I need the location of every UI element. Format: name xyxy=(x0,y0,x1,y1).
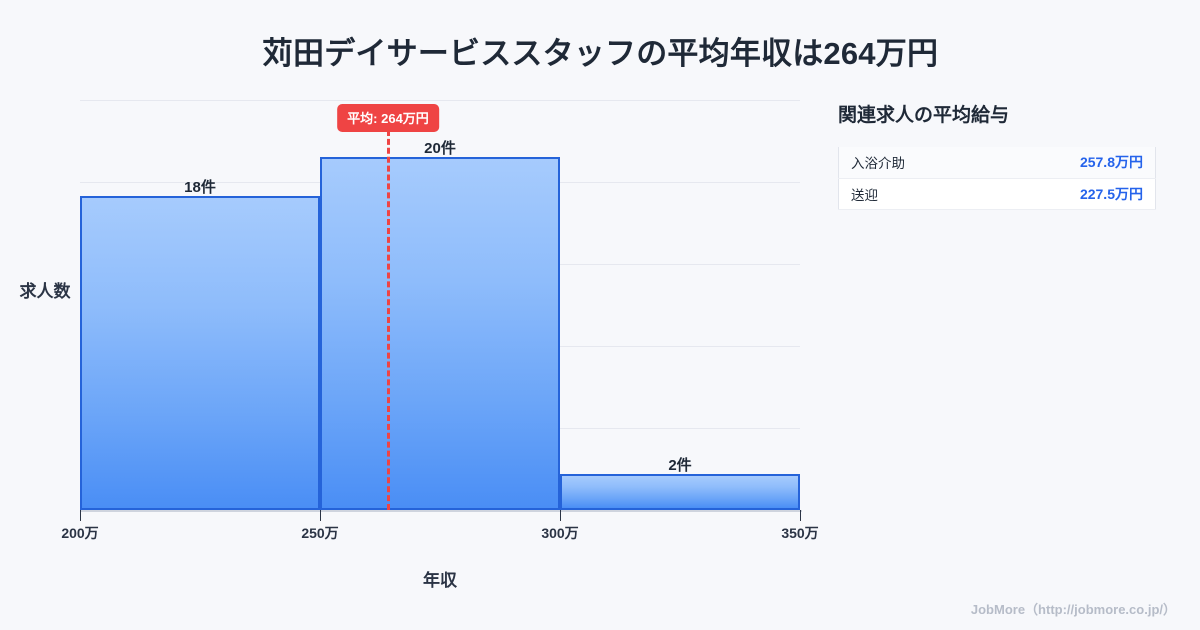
bar-value-label-0: 18件 xyxy=(80,176,320,197)
x-tick-label-2: 300万 xyxy=(530,523,590,543)
row-label: 送迎 xyxy=(839,178,989,209)
bar-bin-2[interactable] xyxy=(560,474,800,510)
page-title: 苅田デイサービススタッフの平均年収は264万円 xyxy=(0,28,1200,73)
table-row[interactable]: 入浴介助 257.8万円 xyxy=(839,147,1156,178)
chart-page: 苅田デイサービススタッフの平均年収は264万円 18件 20件 2件 平均: 2… xyxy=(0,0,1200,630)
side-panel: 関連求人の平均給与 入浴介助 257.8万円 送迎 227.5万円 xyxy=(838,100,1162,210)
x-tick xyxy=(560,510,561,521)
bar-value-label-2: 2件 xyxy=(560,454,800,475)
x-axis-line xyxy=(80,510,802,512)
x-tick-label-1: 250万 xyxy=(290,523,350,543)
x-tick xyxy=(320,510,321,521)
y-axis-title: 求人数 xyxy=(8,277,82,302)
bar-bin-1[interactable] xyxy=(320,157,560,510)
row-value: 227.5万円 xyxy=(988,178,1155,209)
table-row[interactable]: 送迎 227.5万円 xyxy=(839,178,1156,209)
side-panel-title: 関連求人の平均給与 xyxy=(838,100,1162,127)
average-badge: 平均: 264万円 xyxy=(337,104,439,132)
x-tick-label-0: 200万 xyxy=(50,523,110,543)
bar-value-label-1: 20件 xyxy=(320,137,560,158)
x-tick xyxy=(80,510,81,521)
row-value: 257.8万円 xyxy=(988,147,1155,178)
footer-credit: JobMore（http://jobmore.co.jp/） xyxy=(971,599,1176,618)
x-tick xyxy=(800,510,801,521)
average-line xyxy=(387,130,390,510)
plot-area: 18件 20件 2件 xyxy=(80,100,800,510)
bar-bin-0[interactable] xyxy=(80,196,320,510)
related-salary-table: 入浴介助 257.8万円 送迎 227.5万円 xyxy=(838,147,1156,210)
x-tick-label-3: 350万 xyxy=(770,523,830,543)
gridline xyxy=(80,100,800,101)
x-axis-title: 年収 xyxy=(80,566,800,591)
row-label: 入浴介助 xyxy=(839,147,989,178)
